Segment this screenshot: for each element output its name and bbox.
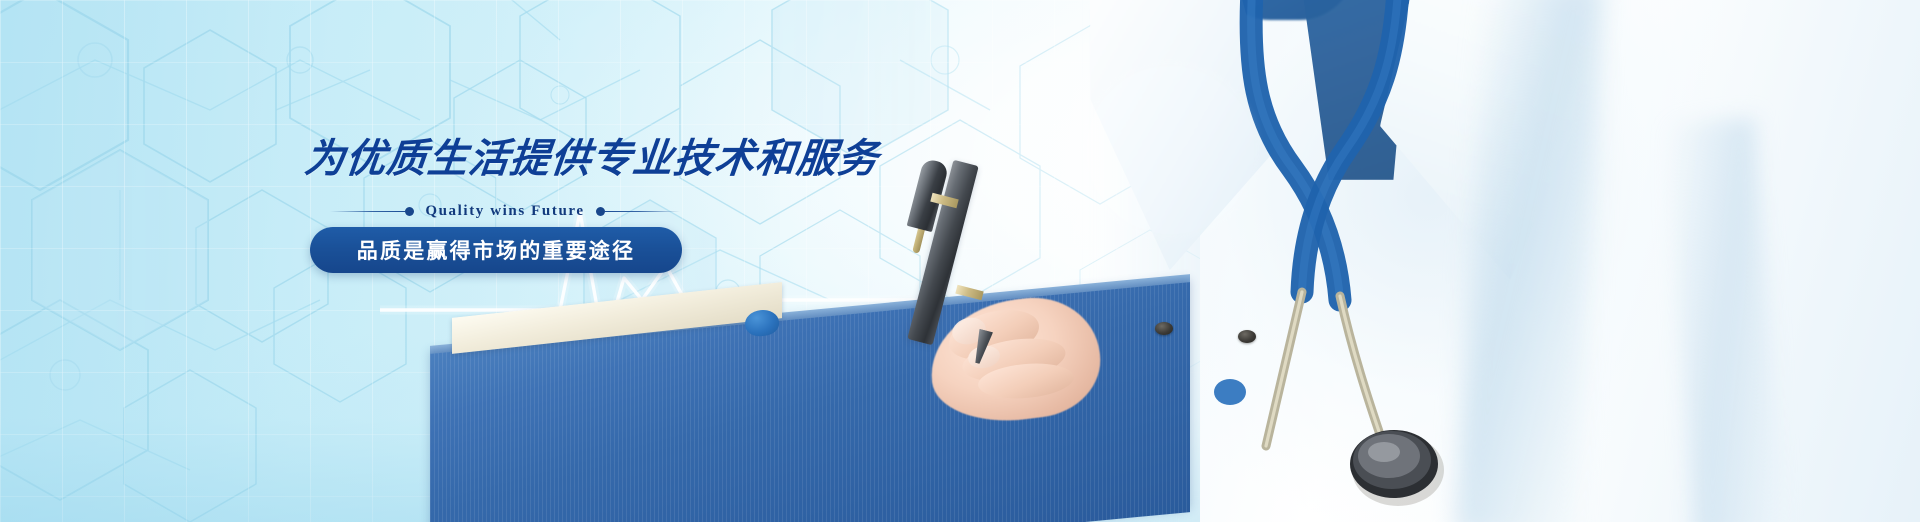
tagline-divider: Quality wins Future [330, 203, 680, 220]
banner-headline: 为优质生活提供专业技术和服务 [302, 126, 882, 184]
banner-content: 为优质生活提供专业技术和服务 Quality wins Future 品质是赢得… [0, 0, 900, 522]
divider-line-left [330, 211, 405, 212]
tagline-english: Quality wins Future [414, 203, 595, 220]
bokeh-highlight [960, 180, 1080, 300]
bokeh-highlight [1080, 60, 1260, 240]
clipboard-rivet [1155, 322, 1173, 335]
slogan-pill-button[interactable]: 品质是赢得市场的重要途径 [310, 227, 682, 273]
slogan-pill-label: 品质是赢得市场的重要途径 [357, 235, 635, 265]
hero-banner: 为优质生活提供专业技术和服务 Quality wins Future 品质是赢得… [0, 0, 1920, 522]
clipboard-rivet [1238, 330, 1256, 343]
divider-dot-right [596, 207, 605, 216]
divider-dot-left [405, 207, 414, 216]
divider-line-right [605, 211, 680, 212]
